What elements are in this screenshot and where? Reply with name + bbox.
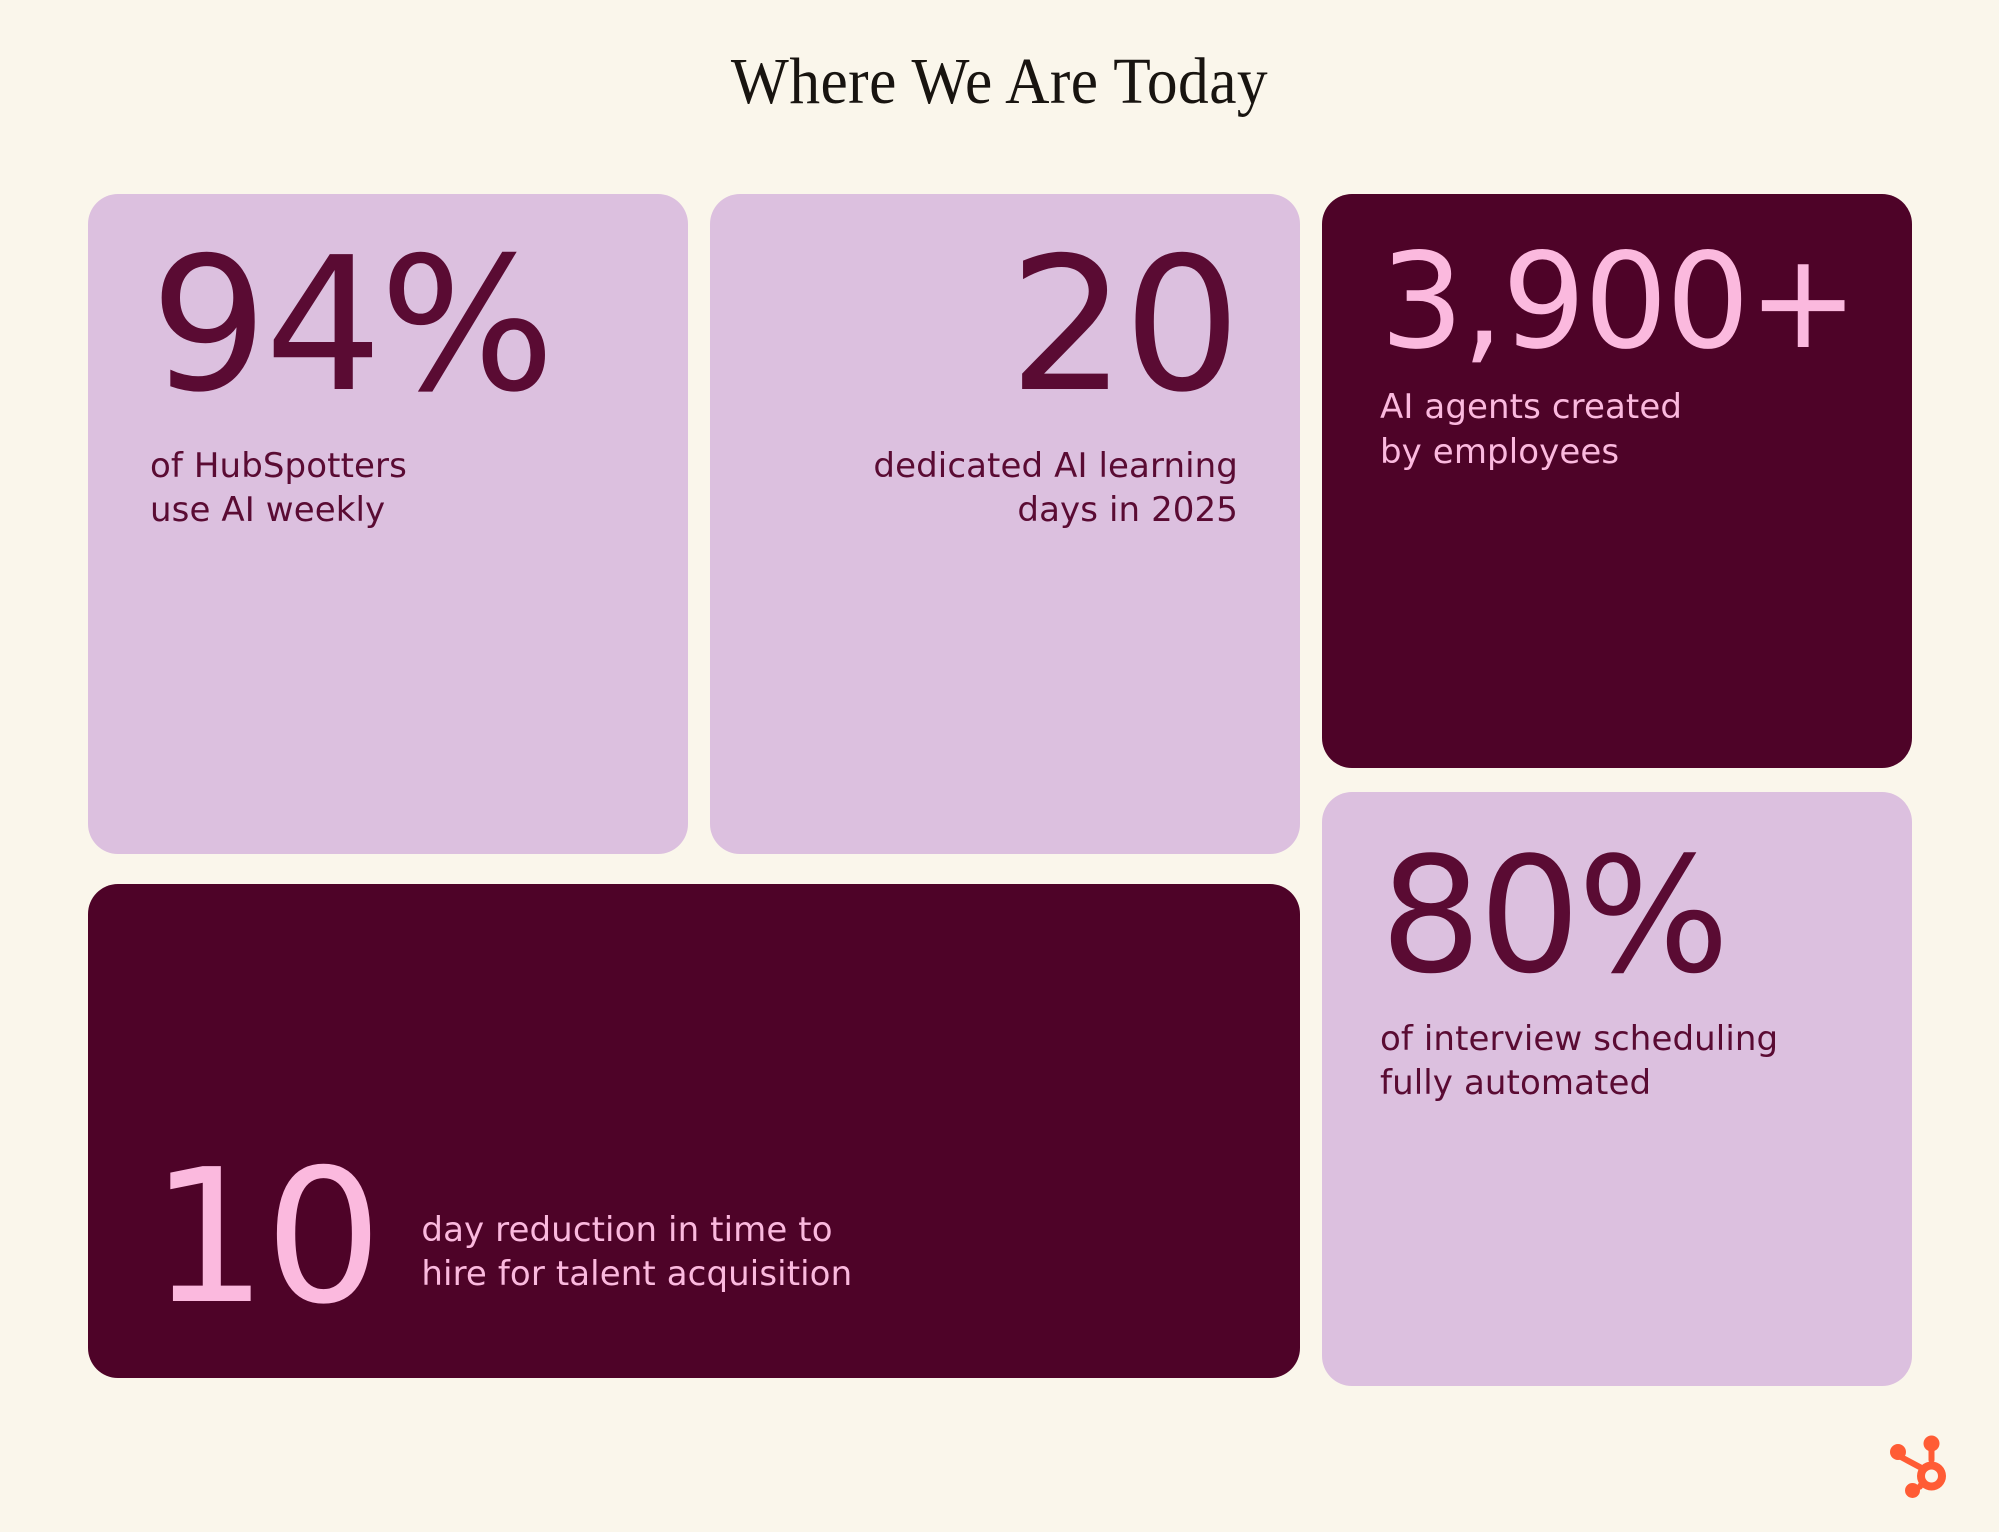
stat-caption-time-to-hire-reduction: day reduction in time to hire for talent… (421, 1208, 852, 1322)
stat-caption-ai-learning-days: dedicated AI learning days in 2025 (710, 444, 1238, 532)
stat-card-interview-scheduling-automated: 80% of interview scheduling fully automa… (1322, 792, 1912, 1386)
stat-card-ai-learning-days: 20 dedicated AI learning days in 2025 (710, 194, 1300, 854)
stat-caption-hubspotters-use-ai: of HubSpotters use AI weekly (150, 444, 688, 532)
stat-card-ai-agents-created: 3,900+ AI agents created by employees (1322, 194, 1912, 768)
hubspot-sprocket-icon (1885, 1430, 1957, 1502)
stat-caption-interview-scheduling-automated: of interview scheduling fully automated (1380, 1017, 1912, 1105)
stat-card-hubspotters-use-ai: 94% of HubSpotters use AI weekly (88, 194, 688, 854)
stat-value-94-percent: 94% (150, 240, 688, 410)
stat-caption-ai-agents-created: AI agents created by employees (1380, 385, 1912, 473)
stat-card-time-to-hire-reduction: 10 day reduction in time to hire for tal… (88, 884, 1300, 1378)
page-title: Where We Are Today (70, 46, 1929, 119)
stat-value-10: 10 (150, 1152, 379, 1322)
stat-value-20: 20 (710, 240, 1238, 410)
stat-row-time-to-hire: 10 day reduction in time to hire for tal… (150, 1152, 852, 1322)
stat-value-80-percent: 80% (1380, 842, 1912, 989)
stat-value-3900-plus: 3,900+ (1380, 242, 1912, 363)
